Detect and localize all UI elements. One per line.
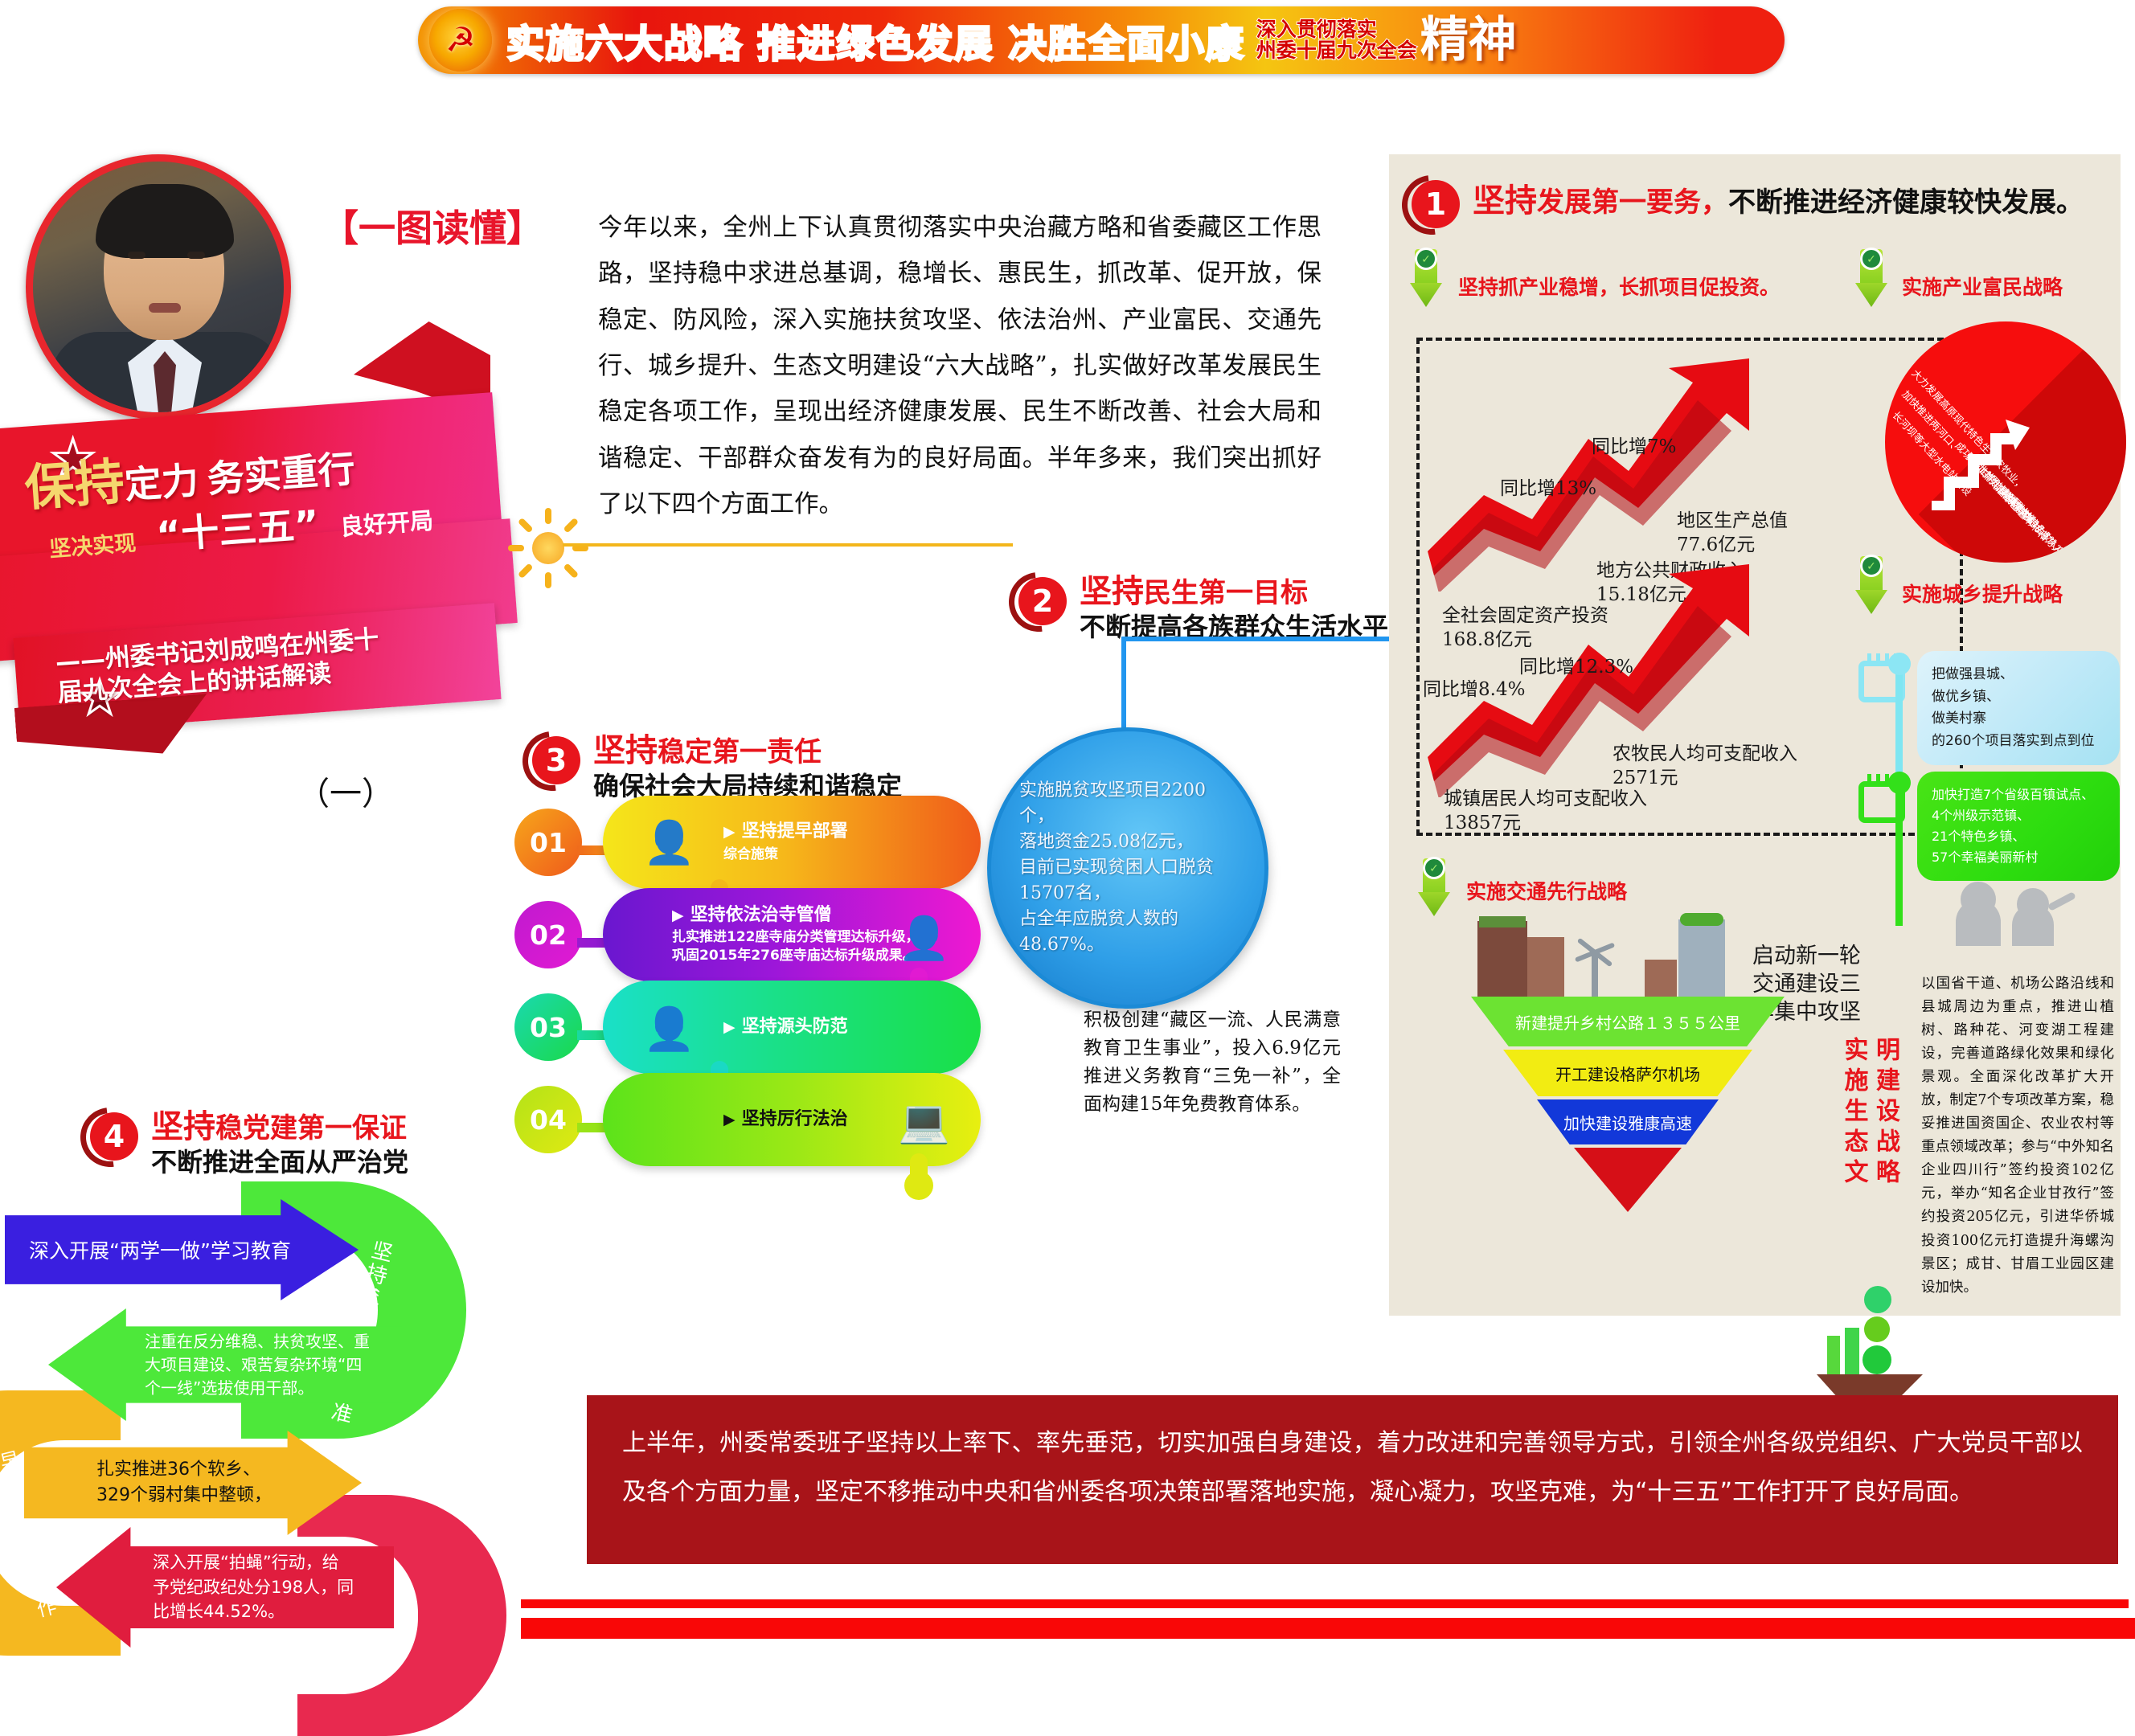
poverty-stat-circle: 实施脱贫攻坚项目2200个， 落地资金25.08亿元， 目前已实现贫困人口脱贫1… xyxy=(987,727,1268,1009)
green-down-arrow-icon: ✓ xyxy=(1418,858,1450,916)
banner-sub-lines: 深入贯彻落实 州委十届九次全会 xyxy=(1256,19,1417,62)
pill-badge-label: 03 xyxy=(530,1012,567,1043)
bubble-urban-projects: 把做强县城、 做优乡镇、 做美村寨 的260个项目落实到点到位 xyxy=(1917,651,2120,765)
banner-main-title: 实施六大战略 推进绿色发展 决胜全面小康 xyxy=(506,13,1245,68)
section-1-sub-left: 坚持抓产业稳增，长抓项目促投资。 xyxy=(1458,272,1780,301)
section-3-number: 3 xyxy=(532,736,580,784)
pill-badge-label: 01 xyxy=(530,827,567,858)
funnel-level-1-label: 新建提升乡村公路１３５５公里 xyxy=(1515,1010,1740,1034)
pill-badge-03[interactable]: 03 xyxy=(514,993,582,1061)
ribbon-subtitle-tail: 良好开局 xyxy=(339,506,434,540)
section-3-pill-list: 01 👤 ▶坚持提早部署 综合施策 02 👤 ▶坚持依法治寺管僧 扎实推进122… xyxy=(514,796,1029,1165)
industry-red-circle: 大力发展高原现代特色生态农牧业， 加快推进两河口、 长河坝等大型水电站建设 成功… xyxy=(1885,321,2126,563)
intro-paragraph: 今年以来，全州上下认真贯彻落实中央治藏方略和省委藏区工作思路，坚持稳中求进总基调… xyxy=(598,205,1322,527)
person-phone-icon: 👤 xyxy=(643,818,695,867)
page-number: （一） xyxy=(297,768,394,814)
top-banner: ☭ 实施六大战略 推进绿色发展 决胜全面小康 深入贯彻落实 州委十届九次全会 精… xyxy=(418,6,1785,74)
chart-urban-value: 13857元 xyxy=(1444,812,1647,836)
ribbon-subtitle-prefix: 坚决实现 xyxy=(48,531,137,563)
section-3-kc: 坚持 xyxy=(593,732,658,769)
pill-dot-link xyxy=(910,1153,928,1189)
chart-label-growth-84: 同比增8.4% xyxy=(1423,678,1525,702)
ribbon-title-part2: 定力 xyxy=(123,458,200,507)
pill-badge-label: 04 xyxy=(530,1104,567,1136)
banner-sub-line-1: 深入贯彻落实 xyxy=(1256,19,1417,40)
green-down-arrow-icon: ✓ xyxy=(1410,249,1442,307)
section-2-number: 2 xyxy=(1018,577,1067,625)
eco-title-col-1: 实施生态文 xyxy=(1841,1037,1867,1189)
arrow-yellow-label: 扎实推进36个软乡、 329个弱村集中整顿， xyxy=(96,1457,272,1509)
arrow-green-label: 注重在反分维稳、扶贫攻坚、重 大项目建设、艰苦复杂环境“四 个一线”选拔使用干部… xyxy=(145,1330,370,1400)
pill-title-01: 坚持提早部署 xyxy=(742,821,848,841)
chart-label-rural: 农牧民人均可支配收入 2571元 xyxy=(1613,743,1797,791)
section-4-arrow-cycle: 坚持“好干部”标准 早谋推进换届工作 深入开展“两学一做”学习教育 注重在反分维… xyxy=(0,1149,547,1648)
read-tag: 【一图读懂】 xyxy=(322,199,543,252)
pill-badge-02[interactable]: 02 xyxy=(514,901,582,968)
pill-item-01[interactable]: 👤 ▶坚持提早部署 综合施策 xyxy=(603,796,981,889)
education-paragraph: 积极创建“藏区一流、人民满意教育卫生事业”，投入6.9亿元推进义务教育“三免一补… xyxy=(1084,1006,1341,1119)
pill-sub-02: 扎实推进122座寺庙分类管理达标升级， 巩固2015年276座寺庙达标升级成果。 xyxy=(672,928,920,965)
conclusion-banner: 上半年，州委常委班子坚持以上率下、率先垂范，切实加强自身建设，着力改进和完善领导… xyxy=(587,1395,2118,1564)
timeline-dot-green xyxy=(1888,772,1911,794)
pill-item-04[interactable]: 💻 ▶坚持厉行法治 xyxy=(603,1073,981,1166)
section-3-heading: 3 坚持稳定第一责任 确保社会大局持续和谐稳定 xyxy=(522,731,902,802)
person-desk-icon: 💻 xyxy=(898,1097,950,1146)
bottom-decor-line-thick xyxy=(521,1618,2135,1639)
person-tablet-icon: 👤 xyxy=(898,914,950,963)
section-1-kc: 坚持 xyxy=(1473,182,1537,219)
chart-label-growth-13: 同比增13% xyxy=(1500,477,1596,502)
section-3-title-red: 稳定第一责任 xyxy=(658,736,822,768)
bubble-town-pilots: 加快打造7个省级百镇试点、 4个州级示范镇、 21个特色乡镇、 57个幸福美丽新… xyxy=(1917,772,2120,881)
pill-badge-label: 02 xyxy=(530,919,567,951)
section-1-heading: 1 坚持发展第一要务，不断推进经济健康较快发展。 xyxy=(1402,175,2084,235)
funnel-level-2: 开工建设格萨尔机场 xyxy=(1503,1050,1752,1096)
pill-title2-01: 综合施策 xyxy=(723,845,848,864)
chart-rural-name: 农牧民人均可支配收入 xyxy=(1613,743,1797,767)
divider-line xyxy=(563,543,1013,547)
chart-urban-name: 城镇居民人均可支配收入 xyxy=(1444,788,1647,812)
section-1-sub-right: 实施产业富民战略 xyxy=(1902,272,2063,301)
poverty-stat-text: 实施脱贫攻坚项目2200个， 落地资金25.08亿元， 目前已实现贫困人口脱贫1… xyxy=(1019,778,1236,957)
sun-icon xyxy=(505,505,592,592)
funnel-level-3: 加快建设雅康高速 xyxy=(1537,1099,1719,1144)
section-3-number-badge: 3 xyxy=(522,731,582,791)
green-down-arrow-icon: ✓ xyxy=(1855,249,1887,307)
banner-spirit-word: 精神 xyxy=(1420,18,1517,63)
chart-gdp-name: 地区生产总值 xyxy=(1677,510,1788,534)
section-2-heading: 2 坚持民生第一目标 不断提高各族群众生活水平 xyxy=(1009,572,1388,643)
transport-funnel-chart: 新建提升乡村公路１３５５公里 开工建设格萨尔机场 加快建设雅康高速 xyxy=(1471,997,1785,1238)
green-city-illustration xyxy=(1471,916,1793,1005)
arrow-red-label: 深入开展“拍蝇”行动，给 予党纪政纪处分198人，同 比增长44.52%。 xyxy=(153,1550,354,1623)
section-4-title-red: 稳党建第一保证 xyxy=(215,1112,407,1144)
section-2-connector-vertical xyxy=(1121,637,1126,733)
chart-label-gdp: 地区生产总值 77.6亿元 xyxy=(1677,510,1788,558)
pill-title-02: 坚持依法治寺管僧 xyxy=(690,905,832,925)
section-1-number-badge: 1 xyxy=(1402,175,1461,235)
section-2-kc: 坚持 xyxy=(1080,573,1144,610)
pill-badge-04[interactable]: 04 xyxy=(514,1086,582,1153)
pill-title-03: 坚持源头防范 xyxy=(742,1017,848,1037)
eco-title-col-2: 明建设战略 xyxy=(1873,1037,1899,1189)
funnel-level-3-label: 加快建设雅康高速 xyxy=(1563,1111,1692,1134)
pill-item-02[interactable]: 👤 ▶坚持依法治寺管僧 扎实推进122座寺庙分类管理达标升级， 巩固2015年2… xyxy=(603,888,981,981)
eco-strategy-paragraph: 以国省干道、机场公路沿线和县城周边为重点，推进山植树、路种花、河变湖工程建设，完… xyxy=(1921,972,2114,1300)
timeline-line-cyan xyxy=(1895,657,1903,778)
timeline-line-green xyxy=(1895,773,1903,926)
banner-sub-line-2: 州委十届九次全会 xyxy=(1256,40,1417,61)
chart-label-growth-7: 同比增7% xyxy=(1592,436,1677,460)
headline-ribbon: ★ ★ 保持定力 务实重行 坚决实现“十三五”良好开局 ——州委书记刘成鸣在州委… xyxy=(0,338,514,788)
section-2-title-red: 民生第一目标 xyxy=(1144,577,1308,609)
pill-badge-01[interactable]: 01 xyxy=(514,809,582,876)
chart-gdp-value: 77.6亿元 xyxy=(1677,534,1788,558)
section-1-title-black: 不断推进经济健康较快发展。 xyxy=(1728,186,2084,219)
pill-title-04: 坚持厉行法治 xyxy=(742,1109,848,1129)
arrow-blue-label: 深入开展“两学一做”学习教育 xyxy=(29,1235,291,1264)
section-1-sub-traffic: 实施交通先行战略 xyxy=(1466,876,1627,905)
section-1-number: 1 xyxy=(1412,180,1460,228)
funnel-level-4 xyxy=(1574,1148,1682,1212)
green-down-arrow-icon: ✓ xyxy=(1855,556,1887,614)
section-2-number-badge: 2 xyxy=(1009,572,1068,632)
funnel-level-2-label: 开工建设格萨尔机场 xyxy=(1555,1062,1700,1085)
section-1-title-red: 发展第一要务， xyxy=(1537,186,1728,219)
funnel-level-1: 新建提升乡村公路１３５５公里 xyxy=(1471,997,1785,1046)
section-4-kc: 坚持 xyxy=(151,1108,215,1145)
chart-label-urban: 城镇居民人均可支配收入 13857元 xyxy=(1444,788,1647,836)
person-tablet-icon: 👤 xyxy=(643,1005,695,1054)
eco-city-illustration xyxy=(1845,1286,1965,1382)
pill-item-03[interactable]: 👤 ▶坚持源头防范 xyxy=(603,981,981,1074)
chart-label-growth-123: 同比增12.3% xyxy=(1519,656,1633,680)
bottom-decor-line-thin xyxy=(521,1599,2129,1608)
timeline-dot-cyan xyxy=(1888,653,1911,675)
section-1-sub-right-2: 实施城乡提升战略 xyxy=(1902,579,2063,608)
party-emblem-icon: ☭ xyxy=(429,9,492,72)
